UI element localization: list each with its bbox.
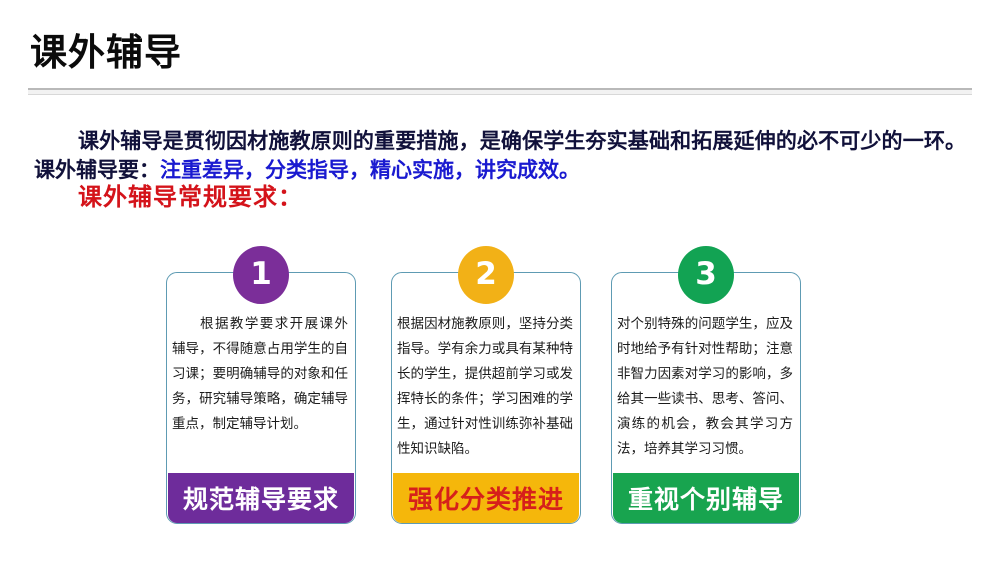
- card-1-body-text: 根据教学要求开展课外辅导，不得随意占用学生的自习课；要明确辅导的对象和任务，研究…: [166, 312, 356, 466]
- slide-root: 课外辅导 课外辅导是贯彻因材施教原则的重要措施，是确保学生夯实基础和拓展延伸的必…: [0, 0, 1000, 562]
- cards-container: 1 根据教学要求开展课外辅导，不得随意占用学生的自习课；要明确辅导的对象和任务，…: [0, 0, 1000, 562]
- card-3-footer-label[interactable]: 重视个别辅导: [613, 473, 799, 523]
- card-1[interactable]: 1 根据教学要求开展课外辅导，不得随意占用学生的自习课；要明确辅导的对象和任务，…: [166, 272, 356, 524]
- card-2[interactable]: 2 根据因材施教原则，坚持分类指导。学有余力或具有某种特长的学生，提供超前学习或…: [391, 272, 581, 524]
- card-1-number-badge: 1: [233, 246, 289, 304]
- card-2-body-text: 根据因材施教原则，坚持分类指导。学有余力或具有某种特长的学生，提供超前学习或发挥…: [391, 312, 581, 466]
- card-3-body-text: 对个别特殊的问题学生，应及时地给予有针对性帮助；注意非智力因素对学习的影响，多给…: [611, 312, 801, 466]
- card-3-number-badge: 3: [678, 246, 734, 304]
- card-1-footer-label[interactable]: 规范辅导要求: [168, 473, 354, 523]
- card-2-footer-label[interactable]: 强化分类推进: [393, 473, 579, 523]
- card-2-number-badge: 2: [458, 246, 514, 304]
- card-3[interactable]: 3 对个别特殊的问题学生，应及时地给予有针对性帮助；注意非智力因素对学习的影响，…: [611, 272, 801, 524]
